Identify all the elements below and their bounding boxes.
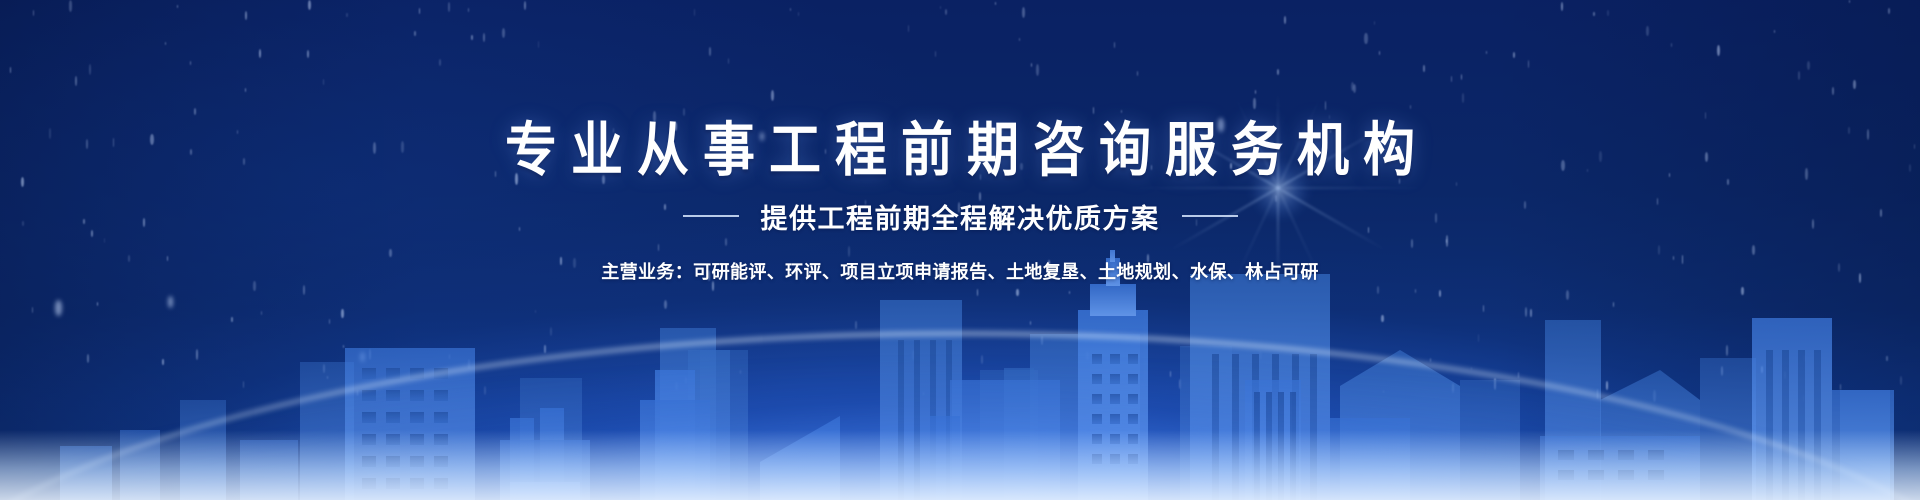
banner-subtitle: 提供工程前期全程解决优质方案 bbox=[761, 197, 1160, 236]
banner-content: 专业从事工程前期咨询服务机构 提供工程前期全程解决优质方案 主营业务：可研能评、… bbox=[0, 0, 1920, 284]
banner-subtitle-row: 提供工程前期全程解决优质方案 bbox=[0, 197, 1920, 236]
dash-left-decoration bbox=[683, 215, 739, 217]
hero-banner: 专业从事工程前期咨询服务机构 提供工程前期全程解决优质方案 主营业务：可研能评、… bbox=[0, 0, 1920, 500]
banner-business-scope: 主营业务：可研能评、环评、项目立项申请报告、土地复垦、土地规划、水保、林占可研 bbox=[0, 258, 1920, 284]
dash-right-decoration bbox=[1182, 215, 1238, 217]
banner-title: 专业从事工程前期咨询服务机构 bbox=[0, 0, 1920, 182]
